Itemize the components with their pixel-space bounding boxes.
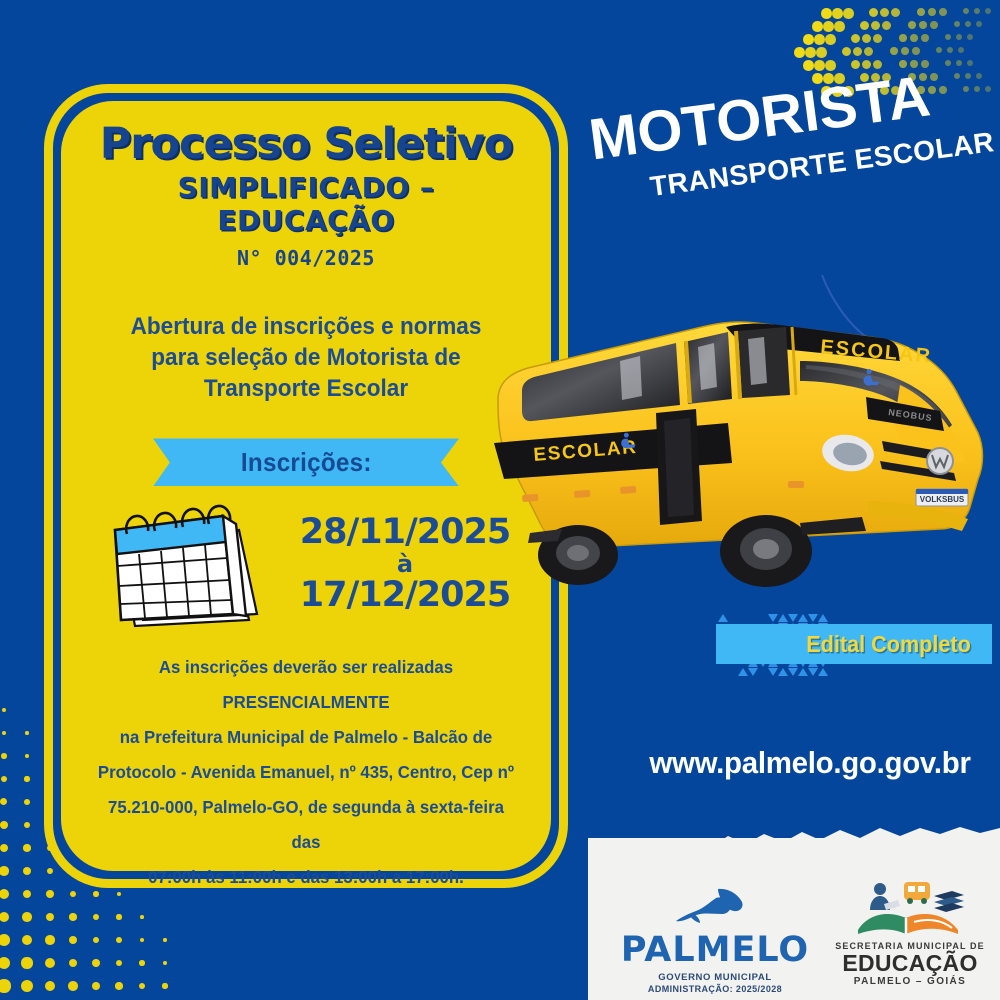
instructions-text: As inscrições deverão ser realizadas PRE… <box>96 650 516 895</box>
instructions-line: Protocolo - Avenida Emanuel, nº 435, Cen… <box>96 755 516 790</box>
inscriptions-ribbon: Inscrições: <box>87 438 525 486</box>
page-title: Processo Seletivo <box>87 123 525 167</box>
educacao-logo-name: EDUCAÇÃO <box>830 951 990 975</box>
instructions-line: 07:00h às 11:00h e das 13:00h a 17:00h. <box>96 860 516 895</box>
dates-row: 28/11/2025 à 17/12/2025 <box>87 494 525 634</box>
palmelo-logo-sub1: GOVERNO MUNICIPAL <box>600 972 830 983</box>
edital-badge-label: Edital Completo <box>806 631 971 658</box>
palmelo-logo: PALMELO GOVERNO MUNICIPAL ADMINISTRAÇÃO:… <box>600 880 830 994</box>
calendar-icon <box>99 494 289 634</box>
school-bus-image: ESCOLAR ESCOL <box>470 265 1000 615</box>
instructions-line: 75.210-000, Palmelo-GO, de segunda à sex… <box>96 790 516 860</box>
footer-logos: PALMELO GOVERNO MUNICIPAL ADMINISTRAÇÃO:… <box>600 880 1000 995</box>
palmelo-logo-name: PALMELO <box>600 933 830 968</box>
edital-badge[interactable]: Edital Completo <box>716 624 992 664</box>
dove-icon <box>672 886 758 926</box>
educacao-logo-sub2: PALMELO – GOIÁS <box>830 976 990 987</box>
instructions-line: na Prefeitura Municipal de Palmelo - Bal… <box>96 720 516 755</box>
page-subtitle: SIMPLIFICADO – EDUCAÇÃO <box>87 171 525 237</box>
process-number: N° 004/2025 <box>87 246 525 270</box>
role-heading-group: MOTORISTA TRANSPORTE ESCOLAR <box>586 57 1000 210</box>
ribbon-label: Inscrições: <box>241 447 372 478</box>
educacao-logo: SECRETARIA MUNICIPAL DE EDUCAÇÃO PALMELO… <box>830 880 990 987</box>
website-url[interactable]: www.palmelo.go.gov.br <box>649 745 972 781</box>
svg-text:VOLKSBUS: VOLKSBUS <box>920 495 965 504</box>
instructions-line: As inscrições deverão ser realizadas PRE… <box>96 650 516 720</box>
education-book-icon <box>854 880 966 934</box>
palmelo-logo-sub2: ADMINISTRAÇÃO: 2025/2028 <box>600 984 830 994</box>
poster-canvas: Processo Seletivo SIMPLIFICADO – EDUCAÇÃ… <box>0 0 1000 1000</box>
lead-description: Abertura de inscrições e normas para sel… <box>105 312 508 405</box>
